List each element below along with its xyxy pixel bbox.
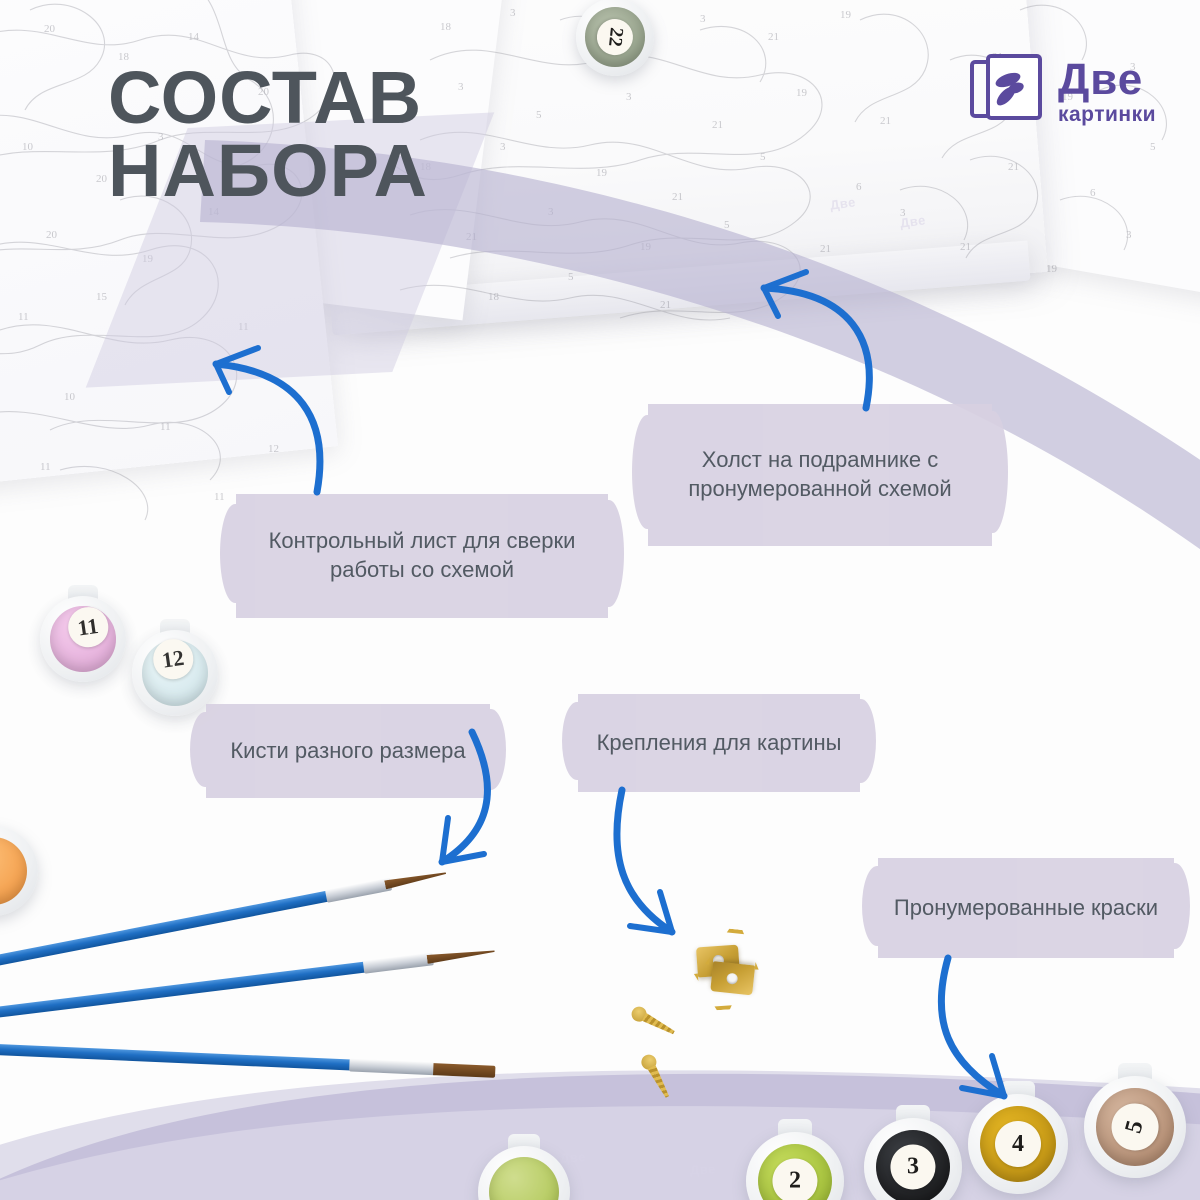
- brand-name-line1: Две: [1058, 58, 1156, 102]
- curved-arrow-down-right-paints: [941, 958, 1004, 1096]
- curved-arrow-down-left-brushes: [442, 732, 487, 862]
- two-pictures-icon: [968, 52, 1046, 130]
- curved-arrow-up-left-control: [216, 364, 320, 492]
- brand-name-line2: картинки: [1058, 104, 1156, 125]
- curved-arrow-up-left-canvas: [764, 288, 869, 408]
- page-title: СОСТАВ НАБОРА: [108, 62, 428, 207]
- promo-image: 201814 201020 32019 141115 111011 121111…: [0, 0, 1200, 1200]
- brand-logo[interactable]: Две картинки: [968, 52, 1156, 130]
- brand-wordmark: Две картинки: [1058, 58, 1156, 125]
